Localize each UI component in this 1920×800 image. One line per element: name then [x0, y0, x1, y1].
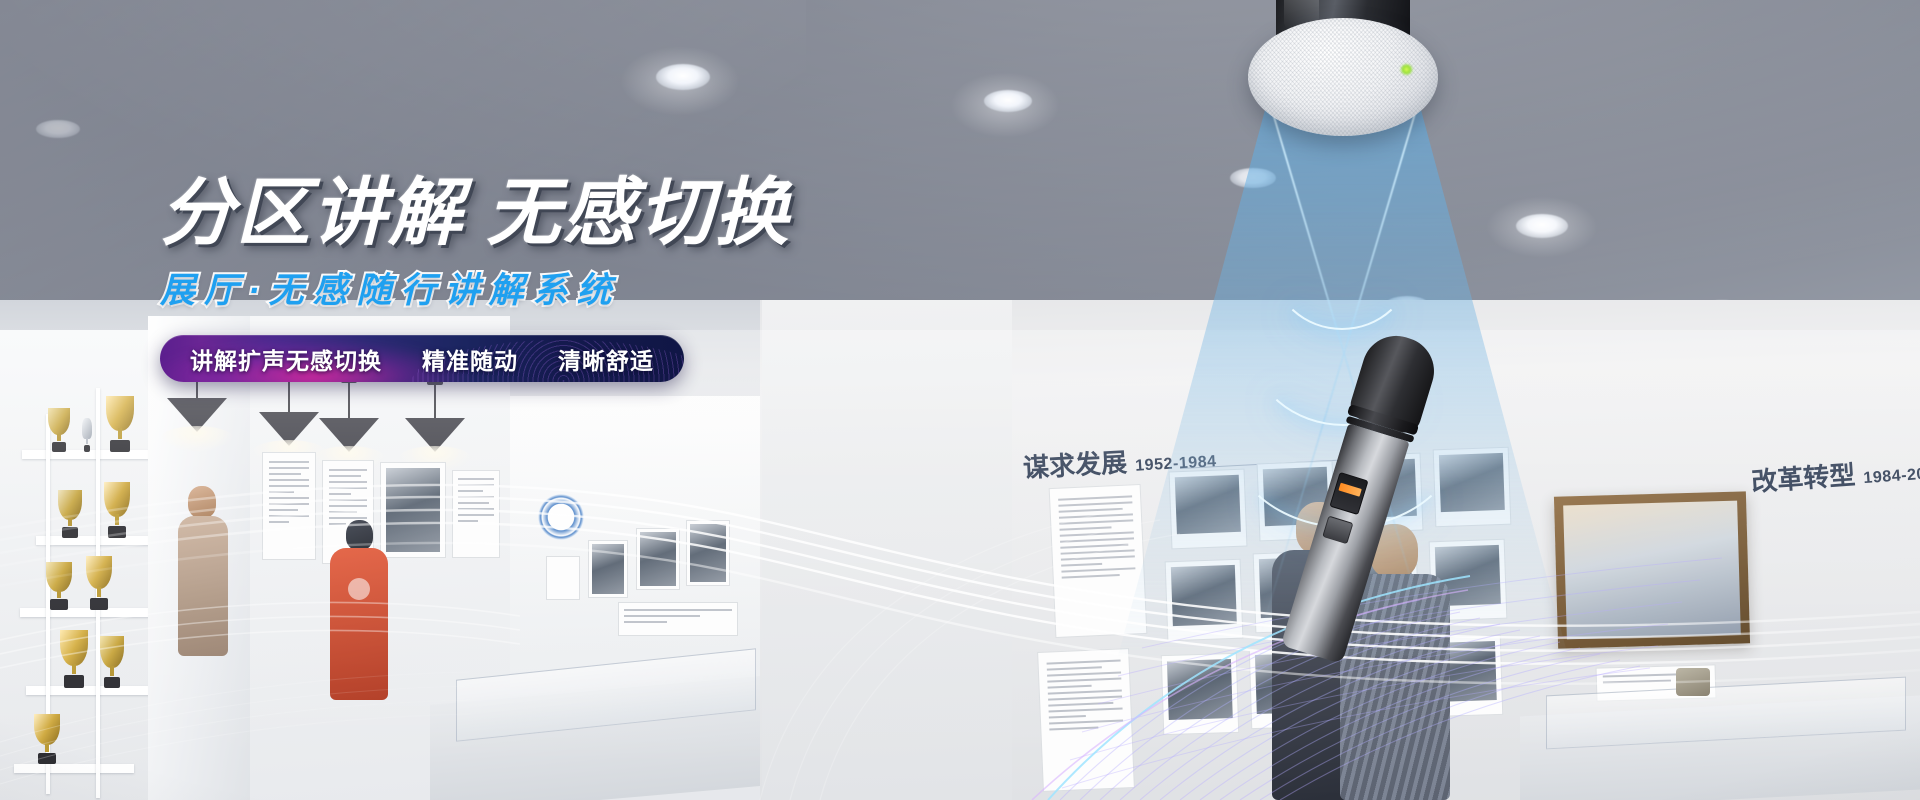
feature-badge-1: 讲解扩声无感切换	[190, 342, 382, 376]
vignette-overlay	[0, 0, 1920, 800]
feature-badge-2: 精准随动	[422, 342, 518, 376]
promo-banner: 谋求发展1952-1984 改革转型1984-2010	[0, 0, 1920, 800]
feature-badge-3: 清晰舒适	[558, 342, 654, 376]
feature-badge-bar: 讲解扩声无感切换 精准随动 清晰舒适	[160, 335, 684, 382]
